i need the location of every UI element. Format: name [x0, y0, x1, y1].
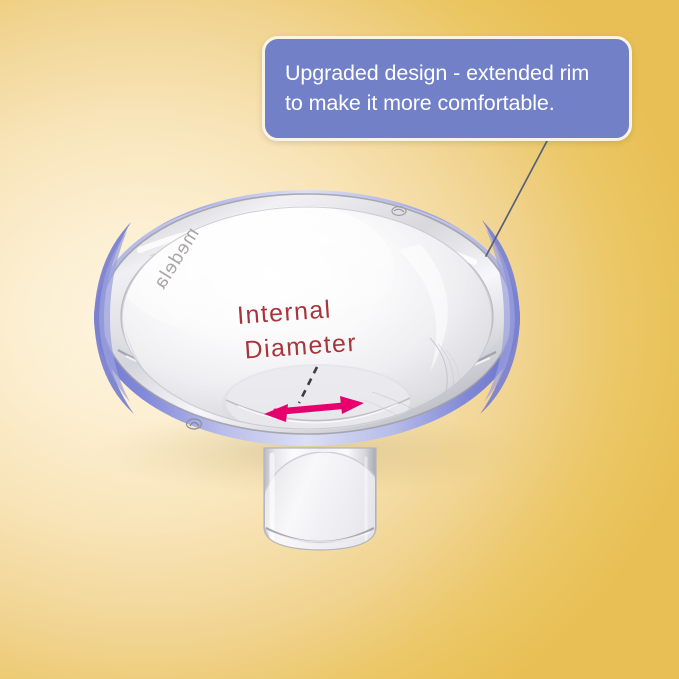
internal-diameter-label: Internal Diameter — [236, 291, 358, 369]
brand-emboss-medela: medela — [150, 224, 205, 294]
flange-neck — [262, 448, 386, 568]
feature-callout-bubble: Upgraded design - extended rim to make i… — [262, 36, 632, 141]
product-image-scene: medela Internal Diameter Upgraded design… — [0, 0, 679, 679]
diameter-pointer-dashes — [299, 367, 317, 403]
internal-diameter-line2: Diameter — [243, 326, 358, 369]
feature-callout-text: Upgraded design - extended rim to make i… — [285, 59, 607, 118]
callout-leader-line — [486, 141, 547, 256]
internal-diameter-arrow — [264, 396, 364, 422]
